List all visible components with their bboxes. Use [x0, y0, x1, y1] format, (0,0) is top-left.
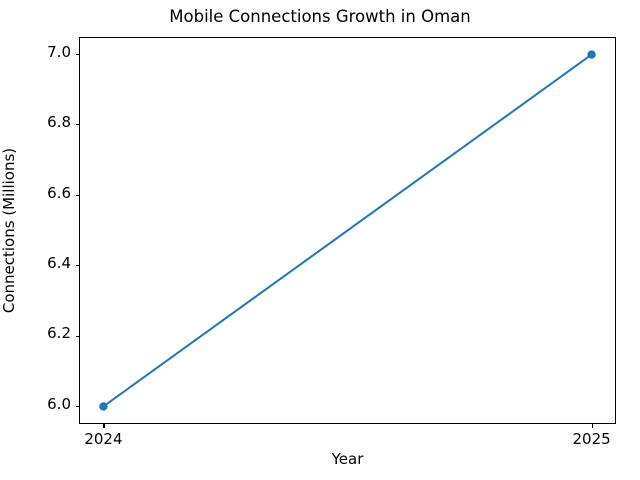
x-axis-label: Year — [79, 450, 616, 468]
chart-title: Mobile Connections Growth in Oman — [0, 7, 640, 26]
y-axis-label: Connections (Millions) — [0, 37, 18, 424]
y-tick-label-text: 6.6 — [47, 184, 71, 202]
y-tick-mark — [76, 336, 80, 337]
y-tick-label-text: 6.2 — [47, 324, 71, 342]
y-tick-label-text: 7.0 — [47, 43, 71, 61]
x-tick-label: 2025 — [572, 430, 610, 448]
y-tick-label-text: 6.0 — [47, 395, 71, 413]
x-tick-mark — [592, 424, 593, 428]
y-tick-label-text: 6.8 — [47, 113, 71, 131]
y-tick-label-text: 6.4 — [47, 254, 71, 272]
plot-area — [79, 37, 616, 424]
y-tick-mark — [76, 265, 80, 266]
y-tick-mark — [76, 124, 80, 125]
y-tick-mark — [76, 406, 80, 407]
x-tick-mark — [103, 424, 104, 428]
chart-figure: Mobile Connections Growth in Oman 7.0 6.… — [0, 0, 640, 480]
y-tick-mark — [76, 195, 80, 196]
y-tick-mark — [76, 54, 80, 55]
x-tick-label: 2024 — [84, 430, 122, 448]
